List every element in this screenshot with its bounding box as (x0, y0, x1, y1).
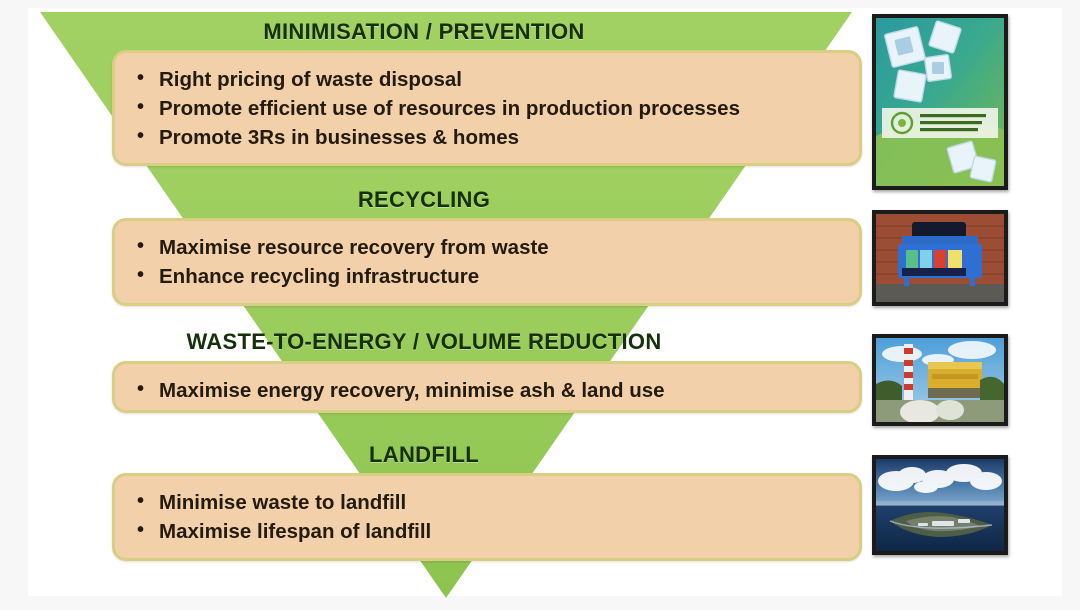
bullet-list: Maximise resource recovery from waste En… (135, 233, 843, 291)
tier-content-box: Maximise resource recovery from waste En… (112, 218, 862, 306)
bullet-list: Maximise energy recovery, minimise ash &… (135, 376, 843, 405)
tier-content-box: Maximise energy recovery, minimise ash &… (112, 361, 862, 413)
photo-incineration-plant (872, 334, 1008, 426)
list-item: Maximise energy recovery, minimise ash &… (135, 376, 843, 405)
tier-heading: RECYCLING (0, 188, 1080, 213)
photo-singapore-packaging-agreement (872, 14, 1008, 190)
photo-landfill-island (872, 455, 1008, 555)
list-item: Promote 3Rs in businesses & homes (135, 123, 843, 152)
list-item: Enhance recycling infrastructure (135, 262, 843, 291)
list-item: Right pricing of waste disposal (135, 65, 843, 94)
list-item: Promote efficient use of resources in pr… (135, 94, 843, 123)
canvas-edge-top (0, 0, 1080, 8)
tier-content-box: Minimise waste to landfill Maximise life… (112, 473, 862, 561)
list-item: Maximise lifespan of landfill (135, 517, 843, 546)
waste-hierarchy-slide: MINIMISATION / PREVENTION Right pricing … (0, 0, 1080, 610)
bullet-list: Minimise waste to landfill Maximise life… (135, 488, 843, 546)
canvas-edge-right (1062, 0, 1080, 610)
tier-recycling: RECYCLING Maximise resource recovery fro… (0, 188, 1080, 213)
canvas-edge-bottom (0, 596, 1080, 610)
list-item: Maximise resource recovery from waste (135, 233, 843, 262)
tier-content-box: Right pricing of waste disposal Promote … (112, 50, 862, 166)
photo-blue-recycling-bin (872, 210, 1008, 306)
list-item: Minimise waste to landfill (135, 488, 843, 517)
canvas-edge-left (0, 0, 28, 610)
bullet-list: Right pricing of waste disposal Promote … (135, 65, 843, 152)
